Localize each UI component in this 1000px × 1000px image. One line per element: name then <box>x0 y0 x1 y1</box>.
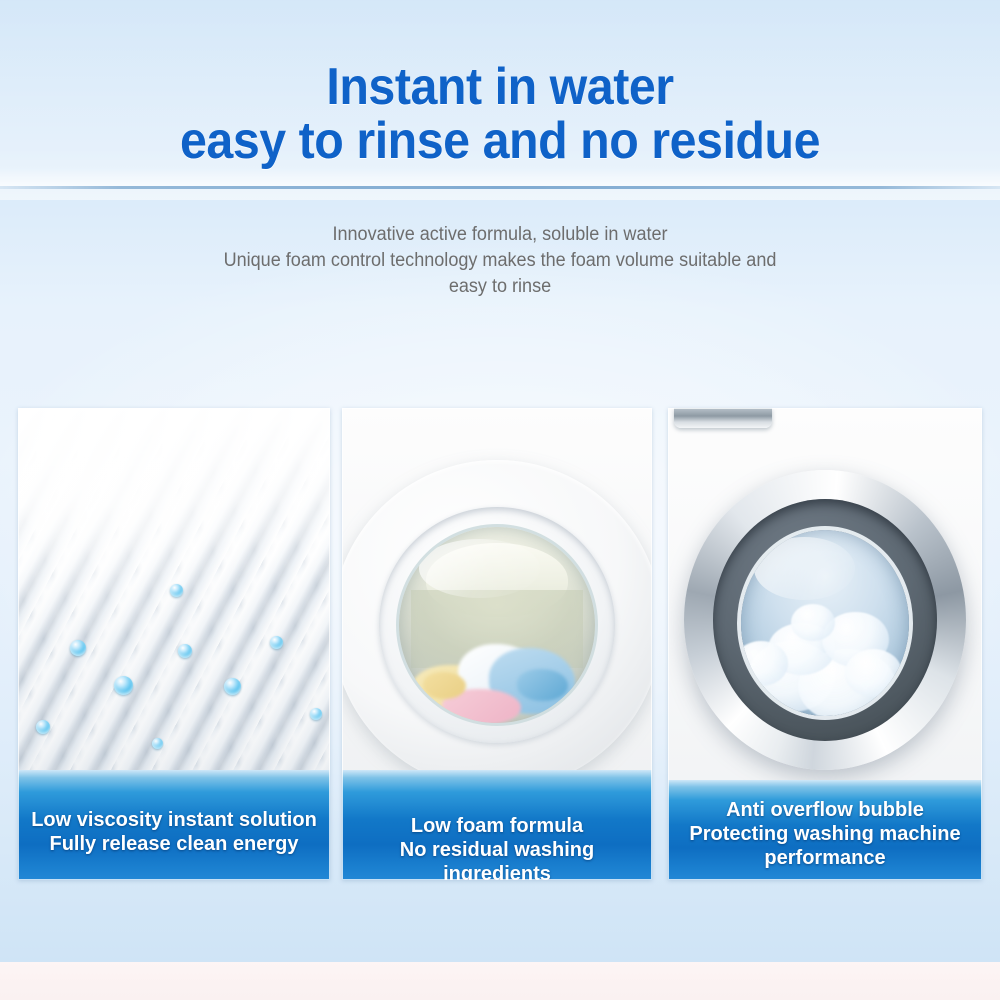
caption-line-3: performance <box>674 846 976 870</box>
panel-caption-washer-clothes: Low foam formula No residual washing ing… <box>342 770 652 880</box>
water-droplet <box>178 644 192 658</box>
panel-caption-fabric: Low viscosity instant solution Fully rel… <box>18 770 330 880</box>
feature-panel-washer-clothes: Low foam formula No residual washing ing… <box>342 408 652 880</box>
headline: Instant in water easy to rinse and no re… <box>35 60 965 168</box>
feature-panel-fabric: Low viscosity instant solution Fully rel… <box>18 408 330 880</box>
water-droplet <box>170 584 183 597</box>
water-droplet <box>36 720 50 734</box>
foam-bubble <box>845 649 902 697</box>
divider-glow <box>0 168 1000 186</box>
subtitle-line-1: Innovative active formula, soluble in wa… <box>139 222 861 248</box>
water-droplet <box>152 738 163 749</box>
washer-door-glass <box>741 530 909 716</box>
caption-line-1: Anti overflow bubble <box>674 798 976 822</box>
header-divider-line <box>0 186 1000 189</box>
headline-line-1: Instant in water <box>35 60 965 114</box>
feature-panel-group: Low viscosity instant solution Fully rel… <box>18 408 982 880</box>
glass-highlight <box>419 539 541 598</box>
headline-line-2: easy to rinse and no residue <box>35 114 965 168</box>
caption-line-2: Protecting washing machine <box>674 822 976 846</box>
caption-line-2: No residual washing ingredients <box>348 838 646 880</box>
cloth-item <box>517 669 568 701</box>
panel-caption-washer-suds: Anti overflow bubble Protecting washing … <box>668 780 982 880</box>
fabric-distance-fade <box>18 408 330 578</box>
washer-door-handle <box>674 408 772 428</box>
product-feature-banner: Instant in water easy to rinse and no re… <box>0 0 1000 1000</box>
subtitle-line-2: Unique foam control technology makes the… <box>139 248 861 274</box>
water-droplet <box>114 676 133 695</box>
background-bottom-strip <box>0 962 1000 1000</box>
subtitle-line-3: easy to rinse <box>139 274 861 300</box>
water-droplet <box>224 678 241 695</box>
water-droplet <box>310 708 322 720</box>
caption-line-1: Low foam formula <box>348 814 646 838</box>
caption-line-1: Low viscosity instant solution <box>24 808 324 832</box>
glass-highlight <box>754 537 855 600</box>
subtitle: Innovative active formula, soluble in wa… <box>139 222 861 300</box>
water-droplet <box>270 636 283 649</box>
washer-door-glass <box>399 527 595 723</box>
clothes-inside-drum <box>399 629 595 723</box>
caption-line-2: Fully release clean energy <box>24 832 324 856</box>
cloth-item <box>423 672 466 698</box>
water-droplet <box>70 640 86 656</box>
feature-panel-washer-suds: Anti overflow bubble Protecting washing … <box>668 408 982 880</box>
